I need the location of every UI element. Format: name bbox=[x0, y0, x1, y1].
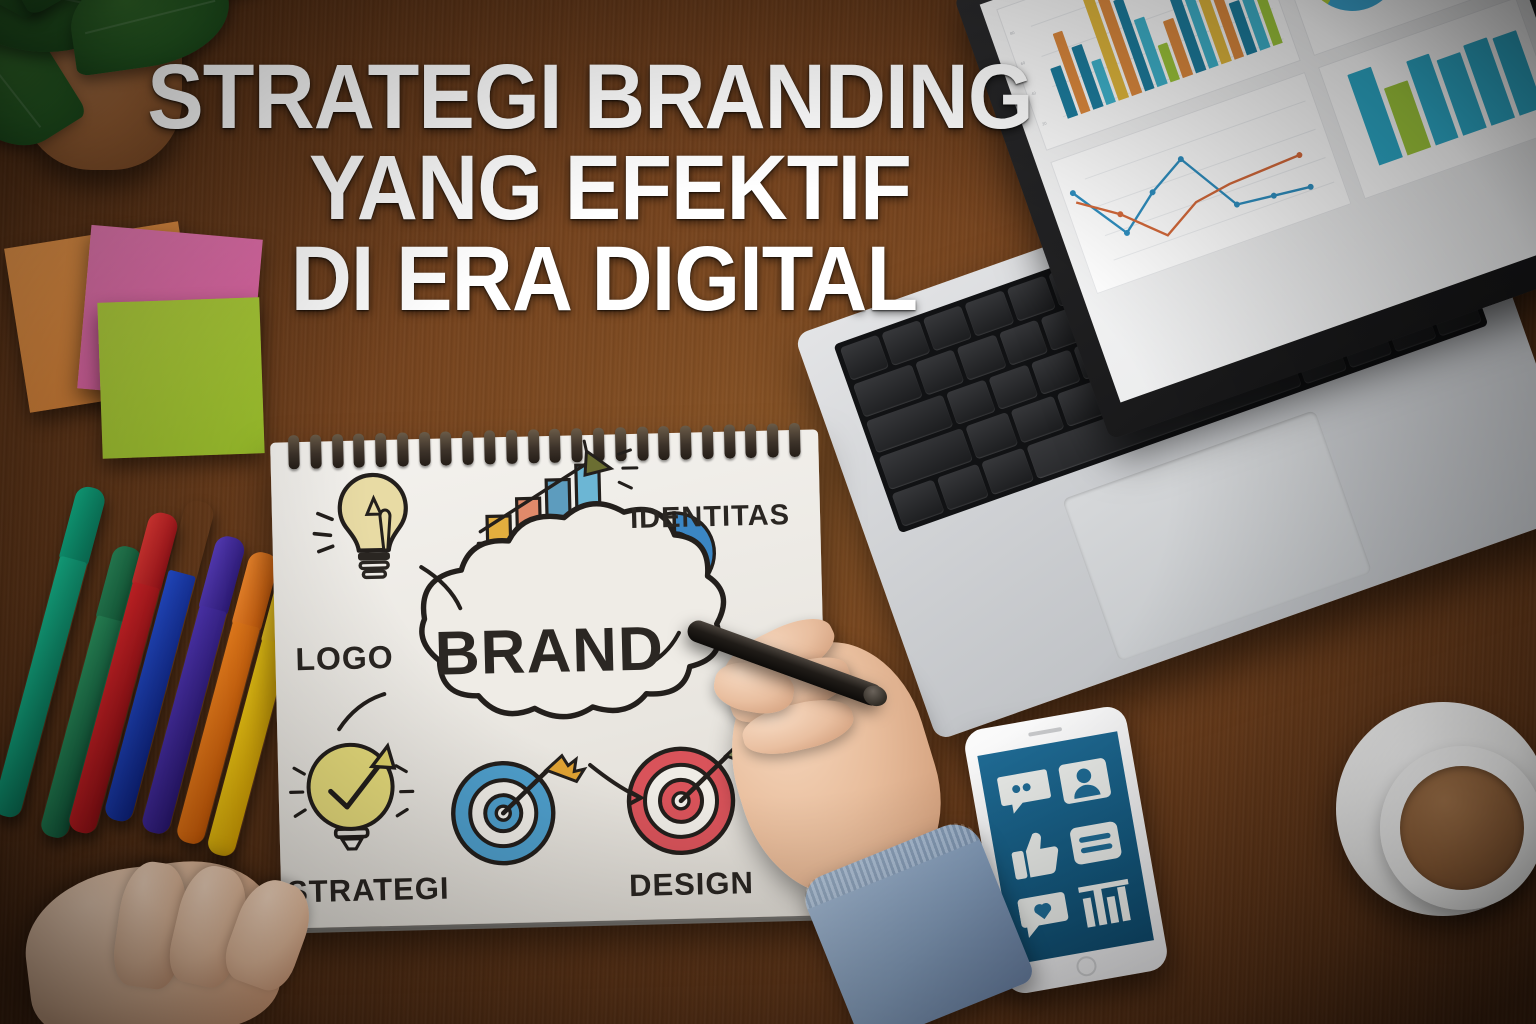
headline: STRATEGI BRANDING YANG EFEKTIF DI ERA DI… bbox=[0, 52, 1180, 325]
sketch-label-brand: BRAND bbox=[434, 614, 664, 689]
left-hand bbox=[26, 862, 366, 1024]
desk-scene: 80 60 40 20 bbox=[0, 0, 1536, 1024]
lightbulb-idea-icon bbox=[313, 474, 407, 579]
headline-line-2: YANG EFEKTIF bbox=[86, 143, 1135, 234]
marker-set bbox=[0, 470, 310, 870]
saucer bbox=[1336, 702, 1536, 916]
sketch-label-identitas: IDENTITAS bbox=[630, 499, 791, 535]
sketch-label-logo: LOGO bbox=[295, 639, 394, 677]
bar-series-segments bbox=[1347, 17, 1536, 166]
target-blue-icon bbox=[452, 755, 587, 864]
cup bbox=[1380, 746, 1536, 910]
coffee-cup bbox=[1336, 690, 1536, 920]
lightbulb-check-icon bbox=[290, 743, 415, 850]
right-hand-with-pen bbox=[714, 608, 1134, 1024]
headline-line-3: DI ERA DIGITAL bbox=[74, 234, 1134, 325]
coffee-liquid bbox=[1400, 766, 1524, 890]
pie-chart bbox=[1291, 0, 1414, 24]
headline-line-1: STRATEGI BRANDING bbox=[47, 52, 1133, 143]
